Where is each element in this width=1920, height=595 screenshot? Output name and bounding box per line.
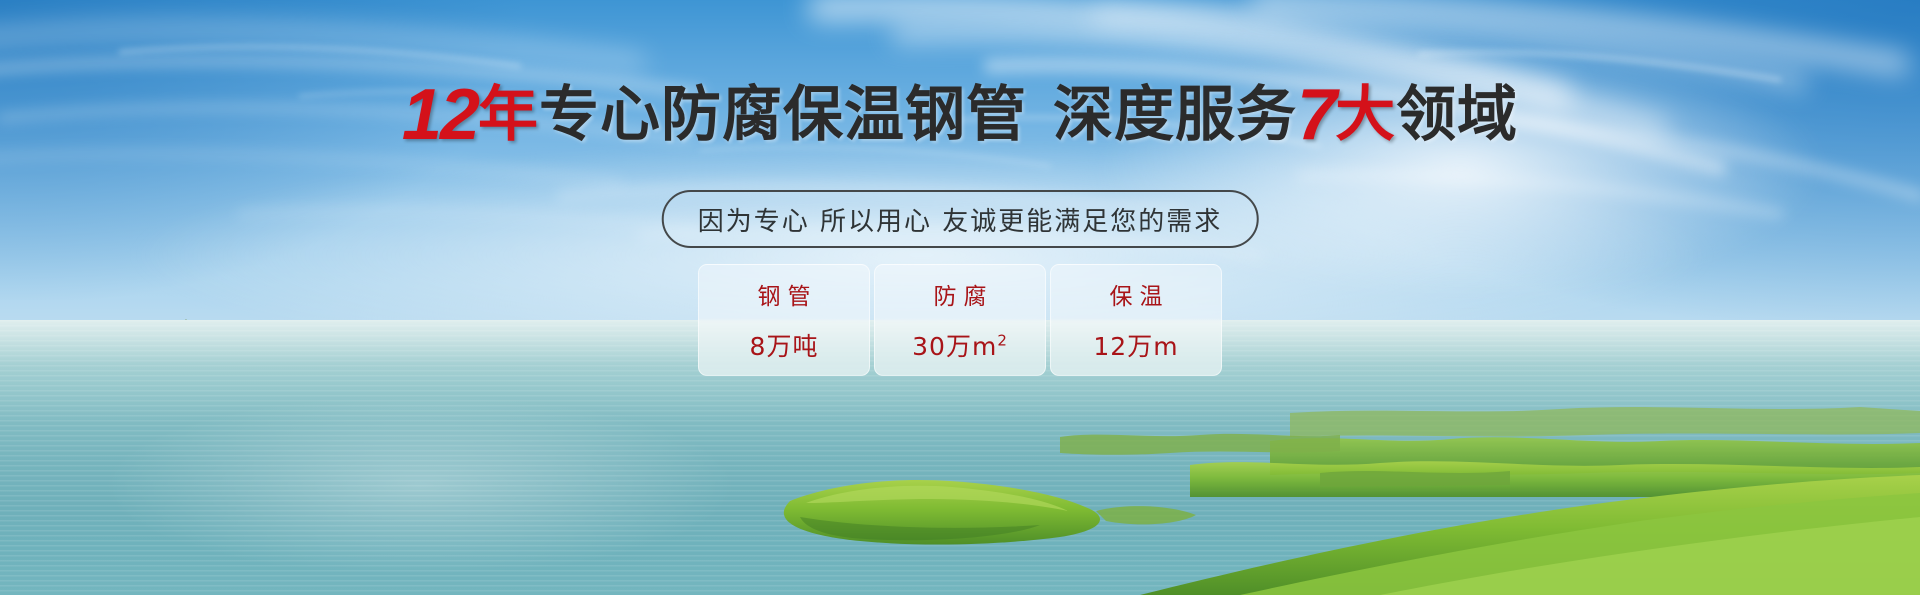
stat-card-value-base: 30万m <box>912 332 997 361</box>
headline-years-number: 12 <box>402 75 478 155</box>
headline-service-text: 深度服务 <box>1053 80 1297 150</box>
stat-card-group: 钢管 8万吨 防腐 30万m2 保温 12万m <box>698 264 1222 376</box>
headline-fields-unit: 大 <box>1335 80 1396 150</box>
headline-fields-number: 7 <box>1297 75 1335 155</box>
stat-card-label: 保温 <box>1103 277 1170 311</box>
stat-card-label: 防腐 <box>927 277 994 311</box>
stat-card[interactable]: 钢管 8万吨 <box>698 264 870 376</box>
banner-subtitle-text: 因为专心 所以用心 友诚更能满足您的需求 <box>698 201 1223 238</box>
stat-card-value: 30万m2 <box>912 327 1008 363</box>
stat-card-value: 12万m <box>1093 327 1178 363</box>
banner-content: 12年专心防腐保温钢管深度服务7大领域 因为专心 所以用心 友诚更能满足您的需求… <box>0 0 1920 595</box>
headline-years-unit: 年 <box>478 80 539 150</box>
stat-card[interactable]: 防腐 30万m2 <box>874 264 1046 376</box>
hero-banner: 12年专心防腐保温钢管深度服务7大领域 因为专心 所以用心 友诚更能满足您的需求… <box>0 0 1920 595</box>
headline-fields-text: 领域 <box>1396 80 1518 150</box>
stat-card[interactable]: 保温 12万m <box>1050 264 1222 376</box>
banner-subtitle-pill: 因为专心 所以用心 友诚更能满足您的需求 <box>662 190 1259 248</box>
stat-card-value-exponent: 2 <box>997 332 1008 350</box>
stat-card-value-base: 8万吨 <box>750 332 819 361</box>
stat-card-value-base: 12万m <box>1093 332 1178 361</box>
stat-card-value: 8万吨 <box>750 327 819 363</box>
headline-main-text: 专心防腐保温钢管 <box>539 80 1027 150</box>
stat-card-label: 钢管 <box>751 277 818 311</box>
banner-headline: 12年专心防腐保温钢管深度服务7大领域 <box>0 84 1920 146</box>
